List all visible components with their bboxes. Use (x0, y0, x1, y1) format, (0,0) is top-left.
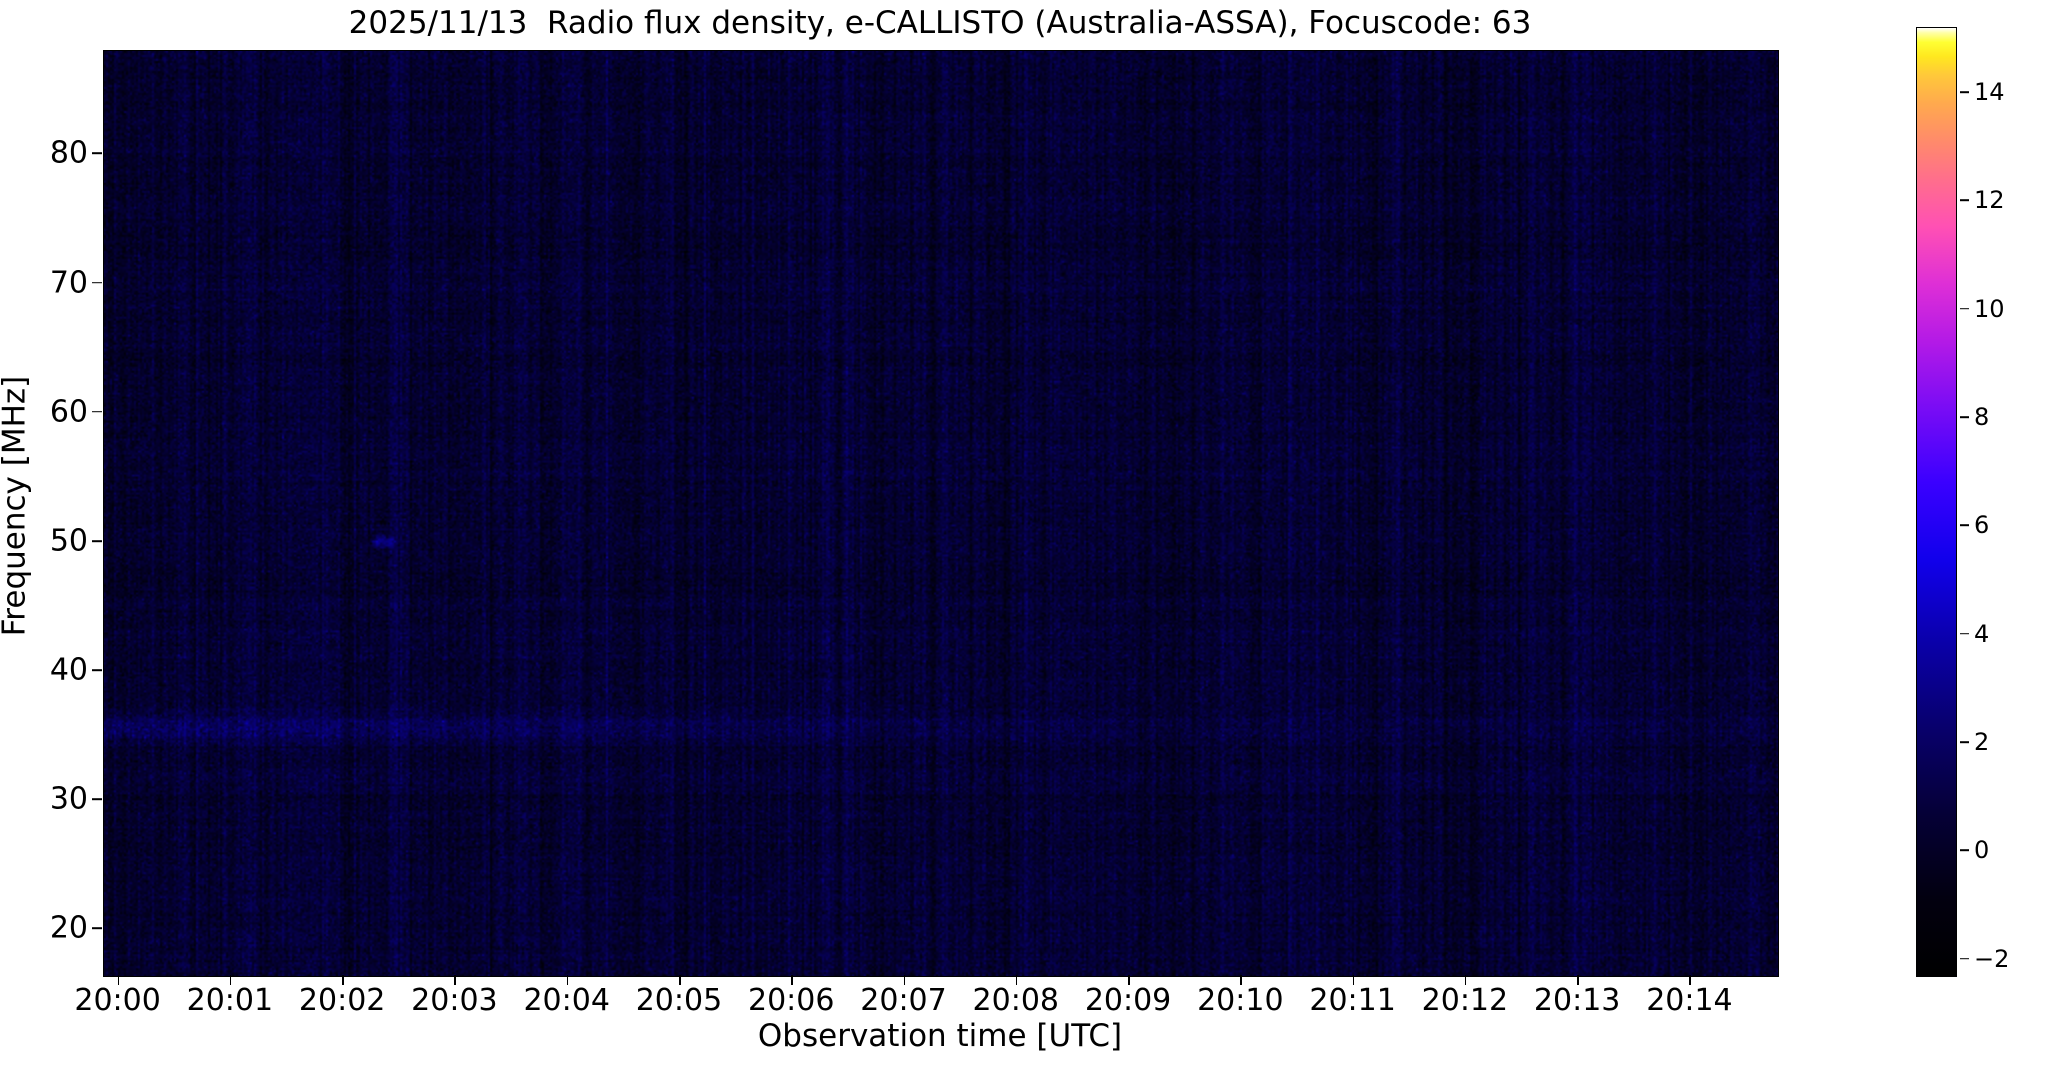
colorbar-tick-mark (1960, 91, 1969, 93)
colorbar-tick-label: 8 (1974, 403, 1989, 431)
y-tick-mark (92, 411, 102, 413)
plot-area (103, 50, 1779, 977)
y-tick-mark (92, 153, 102, 155)
colorbar-tick-mark (1960, 850, 1969, 852)
page-title: 2025/11/13 Radio flux density, e-CALLIST… (103, 4, 1777, 42)
y-tick-mark (92, 282, 102, 284)
colorbar-tick-label: 4 (1974, 620, 1989, 648)
colorbar-tick-label: 14 (1974, 78, 2005, 106)
colorbar-tick-mark (1960, 525, 1969, 527)
colorbar-ticklabels: −202468101214 (1960, 27, 2020, 975)
colorbar-tick-label: 6 (1974, 511, 1989, 539)
colorbar-tick-mark (1960, 958, 1969, 960)
colorbar-tick-mark (1960, 633, 1969, 635)
colorbar-tick-mark (1960, 416, 1969, 418)
colorbar-tick-label: 12 (1974, 186, 2005, 214)
x-axis-label: Observation time [UTC] (103, 1018, 1777, 1054)
colorbar-gradient (1917, 28, 1956, 976)
y-tick-mark (92, 799, 102, 801)
colorbar-tick-label: 2 (1974, 728, 1989, 756)
colorbar-tick-label: −2 (1974, 945, 2009, 973)
colorbar-tick-mark (1960, 308, 1969, 310)
colorbar-tick-mark (1960, 741, 1969, 743)
y-axis-label: Frequency [MHz] (0, 44, 33, 969)
y-tick-mark (92, 669, 102, 671)
colorbar-tick-mark (1960, 200, 1969, 202)
spectrogram-figure: 2025/11/13 Radio flux density, e-CALLIST… (0, 0, 2047, 1067)
spectrogram-image (104, 51, 1778, 976)
y-tick-mark (92, 540, 102, 542)
colorbar (1916, 27, 1957, 977)
colorbar-tick-label: 10 (1974, 295, 2005, 323)
x-tick-label: 20:14 (1609, 983, 1769, 1018)
colorbar-tick-label: 0 (1974, 836, 1989, 864)
y-tick-mark (92, 928, 102, 930)
